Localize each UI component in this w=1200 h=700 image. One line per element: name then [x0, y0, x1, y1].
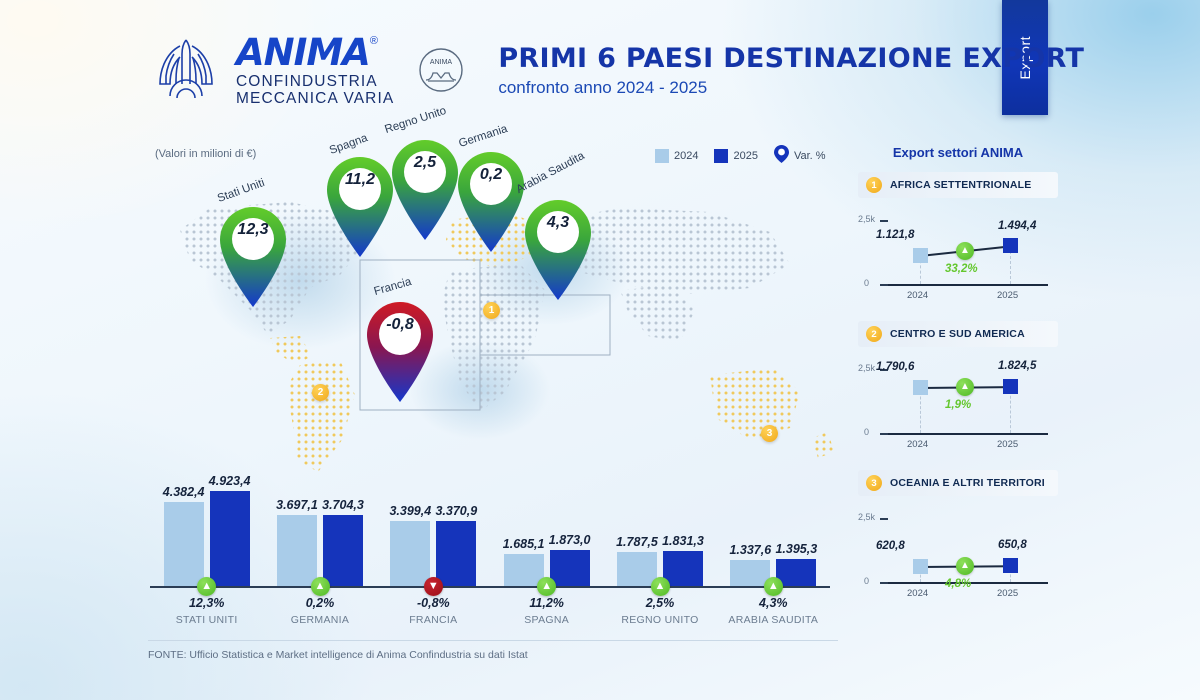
sector-mini-chart: 2,5k0620,8650,8▲4,8%20242025: [858, 500, 1058, 605]
sector-block: 1AFRICA SETTENTRIONALE2,5k01.121,81.494,…: [858, 172, 1058, 307]
map-pin-germania[interactable]: Germania 0,2: [453, 150, 529, 254]
sector-variation-percent: 1,9%: [945, 399, 971, 411]
sector-y-bottom-label: 0: [864, 427, 869, 437]
sector-y-top-label: 2,5k: [858, 363, 875, 373]
brand-line1: CONFINDUSTRIA: [236, 74, 394, 90]
map-marker-3[interactable]: 3: [761, 425, 778, 442]
bar-country-name: ARABIA SAUDITA: [717, 614, 830, 626]
bar-country-name: STATI UNITI: [150, 614, 263, 626]
map-pin-regno-unito-value: 2,5: [387, 154, 463, 172]
sector-value-2025: 1.494,4: [998, 220, 1036, 232]
sector-x-label-2024: 2024: [907, 588, 928, 599]
sector-header[interactable]: 3OCEANIA E ALTRI TERRITORI: [858, 470, 1058, 496]
sector-block: 2CENTRO E SUD AMERICA2,5k01.790,61.824,5…: [858, 321, 1058, 456]
anima-eagle-logo-icon: [150, 34, 222, 106]
bar-value-label: 3.370,9: [435, 504, 477, 518]
sector-y-bottom-label: 0: [864, 576, 869, 586]
sector-header[interactable]: 1AFRICA SETTENTRIONALE: [858, 172, 1058, 198]
bar-x-label: 12,3%STATI UNITI: [150, 596, 263, 626]
bar-groups: 4.382,44.923,43.697,13.704,33.399,43.370…: [150, 478, 830, 586]
map-marker-1[interactable]: 1: [483, 302, 500, 319]
sector-name-label: CENTRO E SUD AMERICA: [890, 328, 1025, 340]
sector-node-2024: [913, 380, 928, 395]
country-bar-chart: 4.382,44.923,43.697,13.704,33.399,43.370…: [150, 478, 830, 628]
sector-y-top-label: 2,5k: [858, 512, 875, 522]
sector-y-top-tick: [880, 220, 888, 222]
bar-value-label: 1.787,5: [616, 535, 658, 549]
source-note: FONTE: Ufficio Statistica e Market intel…: [148, 640, 838, 661]
brand-wordmark: ANIMA ® CONFINDUSTRIA MECCANICA VARIA: [236, 34, 394, 106]
bar-value-label: 3.704,3: [322, 498, 364, 512]
bar-value-label: 1.873,0: [549, 533, 591, 547]
sector-value-2024: 620,8: [876, 540, 905, 552]
bar-variation-value: 4,3%: [717, 596, 830, 610]
anima-seal-icon: ANIMA: [418, 47, 464, 93]
sector-node-2024: [913, 248, 928, 263]
sector-y-bottom-tick: [880, 284, 888, 286]
bar-group: 3.399,43.370,9: [377, 478, 490, 586]
sector-x-label-2024: 2024: [907, 439, 928, 450]
map-pin-germania-label: Germania: [457, 123, 509, 150]
map-pin-stati-uniti[interactable]: Stati Uniti 12,3: [215, 205, 291, 309]
bar-group: 4.382,44.923,4: [150, 478, 263, 586]
sector-x-label-2025: 2025: [997, 290, 1018, 301]
bar-x-label: 0,2%GERMANIA: [263, 596, 376, 626]
bar-value-label: 3.697,1: [276, 498, 318, 512]
bar-2025: 1.831,3: [663, 551, 703, 586]
bar-value-label: 3.399,4: [389, 504, 431, 518]
map-pin-regno-unito-label: Regno Unito: [383, 105, 448, 136]
bar-value-label: 1.685,1: [503, 537, 545, 551]
sector-value-2024: 1.790,6: [876, 361, 914, 373]
bar-2025: 4.923,4: [210, 491, 250, 586]
map-marker-3-label: 3: [767, 428, 773, 439]
sector-value-2025: 1.824,5: [998, 360, 1036, 372]
bar-country-name: FRANCIA: [377, 614, 490, 626]
variation-arrow-badge: ▲: [197, 577, 216, 596]
sector-node-2024: [913, 559, 928, 574]
sectors-panel: Export settori ANIMA 1AFRICA SETTENTRION…: [858, 145, 1058, 619]
bar-x-label: 4,3%ARABIA SAUDITA: [717, 596, 830, 626]
sector-x-label-2025: 2025: [997, 439, 1018, 450]
sector-x-label-2025: 2025: [997, 588, 1018, 599]
bar-group: 3.697,13.704,3: [263, 478, 376, 586]
bar-variation-value: -0,8%: [377, 596, 490, 610]
sector-y-bottom-tick: [880, 433, 888, 435]
brand-line2: MECCANICA VARIA: [236, 91, 394, 107]
sector-node-2025: [1003, 379, 1018, 394]
sector-baseline: [888, 433, 1048, 435]
map-pin-germania-value: 0,2: [453, 166, 529, 184]
variation-arrow-badge: ▲: [537, 577, 556, 596]
sector-y-bottom-label: 0: [864, 278, 869, 288]
page-title: PRIMI 6 PAESI DESTINAZIONE EXPORT: [498, 43, 1084, 74]
sector-name-label: AFRICA SETTENTRIONALE: [890, 179, 1031, 191]
map-marker-2[interactable]: 2: [312, 384, 329, 401]
header: ANIMA ® CONFINDUSTRIA MECCANICA VARIA AN…: [150, 34, 1084, 106]
bar-2024: 3.697,1: [277, 515, 317, 586]
page-subtitle: confronto anno 2024 - 2025: [498, 78, 1084, 98]
sector-name-label: OCEANIA E ALTRI TERRITORI: [890, 477, 1045, 489]
sector-variation-arrow: ▲: [956, 378, 974, 396]
bar-value-label: 4.923,4: [209, 474, 251, 488]
bar-2025: 1.873,0: [550, 550, 590, 586]
sector-number-badge: 3: [866, 475, 882, 491]
sector-node-2025: [1003, 558, 1018, 573]
bar-value-label: 1.337,6: [729, 543, 771, 557]
brand-name: ANIMA: [236, 34, 370, 71]
variation-arrow-badge: ▲: [764, 577, 783, 596]
bar-2024: 1.787,5: [617, 552, 657, 586]
bar-chart-x-labels: 12,3%STATI UNITI0,2%GERMANIA-0,8%FRANCIA…: [150, 596, 830, 626]
bar-variation-value: 2,5%: [603, 596, 716, 610]
sector-variation-percent: 4,8%: [945, 578, 971, 590]
sector-number-badge: 2: [866, 326, 882, 342]
bar-variation-value: 12,3%: [150, 596, 263, 610]
bar-variation-value: 11,2%: [490, 596, 603, 610]
sector-baseline: [888, 284, 1048, 286]
sector-y-top-label: 2,5k: [858, 214, 875, 224]
map-pin-spagna-label: Spagna: [328, 132, 369, 157]
bar-group: 1.337,61.395,3: [717, 478, 830, 586]
map-pin-stati-uniti-value: 12,3: [215, 221, 291, 239]
bar-group: 1.685,11.873,0: [490, 478, 603, 586]
bar-2024: 3.399,4: [390, 521, 430, 586]
sector-mini-chart: 2,5k01.121,81.494,4▲33,2%20242025: [858, 202, 1058, 307]
sector-node-2025: [1003, 238, 1018, 253]
map-marker-2-label: 2: [318, 387, 324, 398]
map-pin-regno-unito[interactable]: Regno Unito 2,5: [387, 138, 463, 242]
sector-x-label-2024: 2024: [907, 290, 928, 301]
sector-value-2024: 1.121,8: [876, 229, 914, 241]
sector-number-badge: 1: [866, 177, 882, 193]
map-pin-francia[interactable]: Francia -0,8: [362, 300, 438, 404]
bar-x-label: -0,8%FRANCIA: [377, 596, 490, 626]
bar-x-label: 2,5%REGNO UNITO: [603, 596, 716, 626]
sector-variation-arrow: ▲: [956, 242, 974, 260]
bar-country-name: SPAGNA: [490, 614, 603, 626]
bar-chart-axis: [150, 586, 830, 588]
bar-2025: 3.704,3: [323, 515, 363, 586]
sector-value-2025: 650,8: [998, 539, 1027, 551]
variation-arrow-badge: ▲: [651, 577, 670, 596]
sector-variation-arrow: ▲: [956, 557, 974, 575]
map-pin-arabia-saudita-value: 4,3: [520, 214, 596, 232]
sectors-panel-title: Export settori ANIMA: [858, 145, 1058, 160]
sector-header[interactable]: 2CENTRO E SUD AMERICA: [858, 321, 1058, 347]
sector-block: 3OCEANIA E ALTRI TERRITORI2,5k0620,8650,…: [858, 470, 1058, 605]
bar-value-label: 1.831,3: [662, 534, 704, 548]
variation-arrow-badge: ▼: [424, 577, 443, 596]
sector-y-bottom-tick: [880, 582, 888, 584]
bar-value-label: 1.395,3: [775, 542, 817, 556]
bar-value-label: 4.382,4: [163, 485, 205, 499]
bar-x-label: 11,2%SPAGNA: [490, 596, 603, 626]
bar-variation-value: 0,2%: [263, 596, 376, 610]
brand-registered-mark: ®: [370, 36, 378, 47]
map-marker-1-label: 1: [489, 305, 495, 316]
bar-2024: 4.382,4: [164, 502, 204, 586]
variation-arrow-badge: ▲: [311, 577, 330, 596]
units-note: (Valori in milioni di €): [155, 148, 256, 160]
sectors-list: 1AFRICA SETTENTRIONALE2,5k01.121,81.494,…: [858, 172, 1058, 605]
map-pin-arabia-saudita[interactable]: Arabia Saudita 4,3: [520, 198, 596, 302]
sector-y-top-tick: [880, 518, 888, 520]
bar-country-name: GERMANIA: [263, 614, 376, 626]
bar-2025: 3.370,9: [436, 521, 476, 586]
bar-group: 1.787,51.831,3: [603, 478, 716, 586]
bar-country-name: REGNO UNITO: [603, 614, 716, 626]
sector-mini-chart: 2,5k01.790,61.824,5▲1,9%20242025: [858, 351, 1058, 456]
map-pin-francia-value: -0,8: [362, 316, 438, 334]
sector-variation-percent: 33,2%: [945, 263, 978, 275]
svg-text:ANIMA: ANIMA: [430, 59, 453, 66]
